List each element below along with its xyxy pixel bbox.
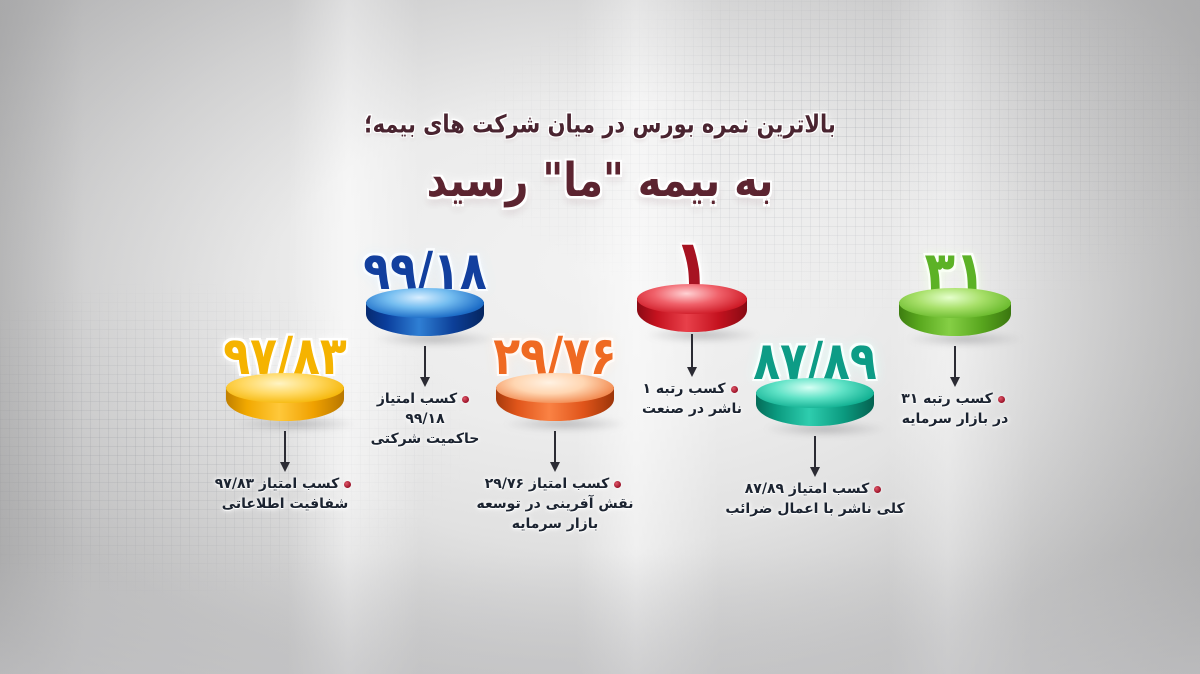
caption-market-development: کسب امتیاز ۲۹/۷۶ نقش آفرینی در توسعه باز… [440, 475, 670, 535]
connector-arrow-overall-score [814, 436, 816, 468]
connector-arrow-transparency [284, 431, 286, 463]
bullet-icon [874, 486, 881, 493]
disc-industry-rank [637, 284, 747, 336]
caption-capital-market-rank: کسب رتبه ۳۱ در بازار سرمایه [840, 390, 1070, 430]
bullet-icon [344, 481, 351, 488]
bullet-icon [614, 481, 621, 488]
headline-block: بالاترین نمره بورس در میان شرکت های بیمه… [0, 112, 1200, 204]
caption-overall-score: کسب امتیاز ۸۷/۸۹ کلی ناشر با اعمال ضرائب [700, 480, 930, 520]
bullet-icon [998, 396, 1005, 403]
connector-arrow-market-development [554, 431, 556, 463]
connector-arrow-industry-rank [691, 334, 693, 368]
connector-arrow-corporate-governance [424, 346, 426, 378]
stat-item-industry-rank[interactable]: ۱ کسب رتبه ۱ ناشر در صنعت [592, 236, 792, 336]
caption-transparency: کسب امتیاز ۹۷/۸۳ شفافیت اطلاعاتی [170, 475, 400, 515]
headline-title: به بیمه "ما" رسید [0, 154, 1200, 207]
connector-arrow-capital-market-rank [954, 346, 956, 378]
disc-capital-market-rank [899, 288, 1011, 340]
infographic-canvas: بالاترین نمره بورس در میان شرکت های بیمه… [0, 0, 1200, 674]
stat-item-capital-market-rank[interactable]: ۳۱ کسب رتبه ۳۱ در بازار سرمایه [855, 248, 1055, 340]
headline-subtitle: بالاترین نمره بورس در میان شرکت های بیمه… [0, 110, 1200, 138]
background-bottom-fade [0, 554, 1200, 674]
